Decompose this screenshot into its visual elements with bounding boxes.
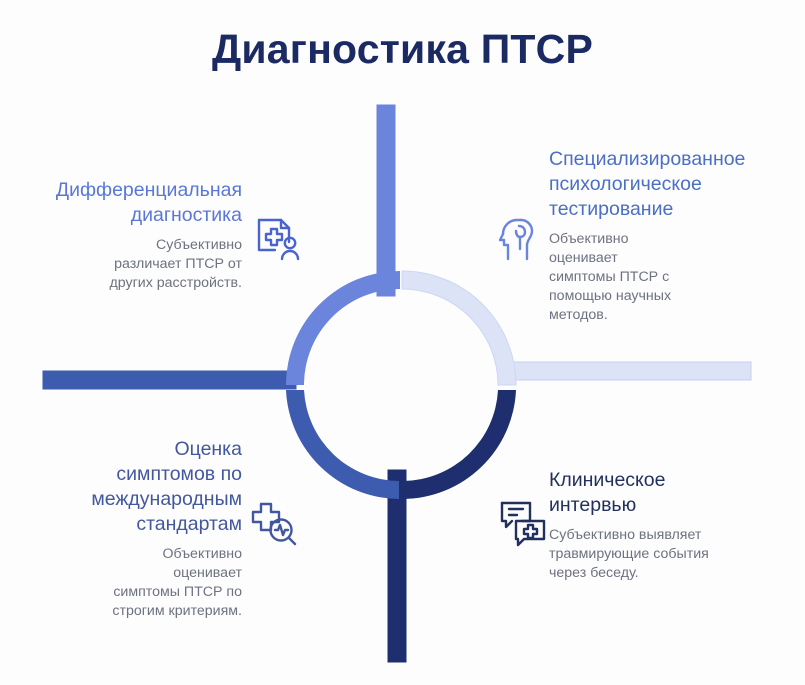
- block-interview-heading: Клиническое интервью: [549, 468, 784, 518]
- connector-top-left: [377, 105, 395, 296]
- block-testing-body: Объективно оценивает симптомы ПТСР с пом…: [549, 230, 699, 325]
- connector-top-right: [506, 362, 751, 380]
- arc-bottom-left: [286, 390, 399, 499]
- medical-cross-magnifier-pulse-icon: [247, 497, 301, 554]
- block-testing-heading: Специализированное психологическое тести…: [549, 147, 779, 222]
- infographic-canvas: Диагностика ПТСР: [0, 0, 805, 685]
- block-differential-heading: Дифференциальная диагностика: [20, 178, 242, 228]
- block-differential-body: Субъективно различает ПТСР от других рас…: [20, 236, 242, 293]
- connector-bottom-left: [43, 371, 296, 389]
- block-specialized-testing: Специализированное психологическое тести…: [549, 147, 779, 325]
- block-standards-body: Объективно оценивает симптомы ПТСР по ст…: [20, 545, 242, 621]
- document-person-medical-icon: [252, 212, 304, 269]
- chat-bubbles-medical-icon: [497, 497, 549, 552]
- block-differential-diagnosis: Дифференциальная диагностика Субъективно…: [20, 178, 242, 293]
- arc-top-left: [286, 271, 400, 385]
- block-interview-body: Субъективно выявляет травмирующие событи…: [549, 526, 784, 583]
- block-clinical-interview: Клиническое интервью Субъективно выявляе…: [549, 468, 784, 583]
- head-brain-icon: [495, 212, 547, 269]
- block-standards-heading: Оценка симптомов по международным станда…: [20, 437, 242, 537]
- arc-top-right: [402, 271, 516, 385]
- block-international-standards: Оценка симптомов по международным станда…: [20, 437, 242, 621]
- arc-bottom-right: [403, 390, 516, 499]
